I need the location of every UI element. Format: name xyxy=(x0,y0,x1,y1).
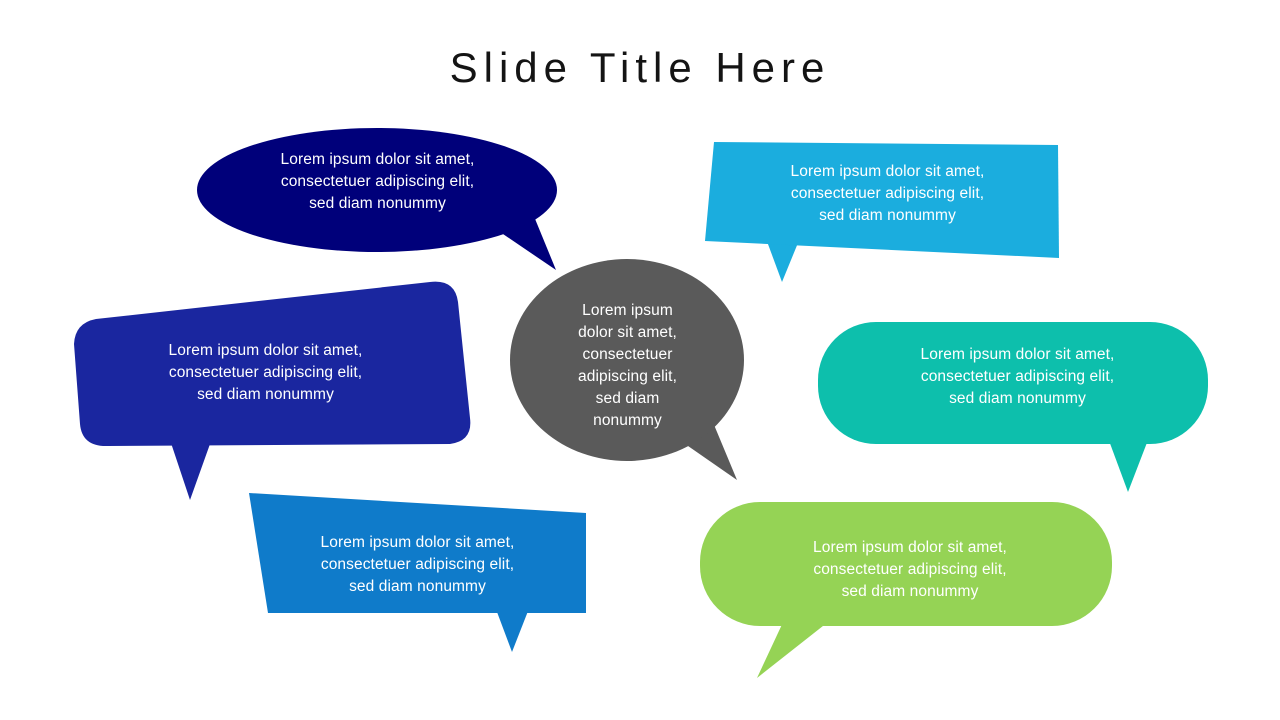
page-title: Slide Title Here xyxy=(0,44,1280,92)
speech-bubble-teal-tail[interactable] xyxy=(1108,438,1148,492)
slide-canvas: Slide Title Here xyxy=(0,0,1280,720)
speech-bubble-green-text: Lorem ipsum dolor sit amet, consectetuer… xyxy=(770,537,1050,603)
speech-bubble-green-tail[interactable] xyxy=(757,618,828,678)
speech-bubble-center-gray-text: Lorem ipsum dolor sit amet, consectetuer… xyxy=(545,300,710,432)
speech-bubble-royal-blue-text: Lorem ipsum dolor sit amet, consectetuer… xyxy=(128,340,403,406)
speech-bubble-teal-text: Lorem ipsum dolor sit amet, consectetuer… xyxy=(880,344,1155,410)
speech-bubble-cyan-text: Lorem ipsum dolor sit amet, consectetuer… xyxy=(745,161,1030,227)
speech-bubble-navy-text: Lorem ipsum dolor sit amet, consectetuer… xyxy=(240,149,515,215)
speech-bubble-blue-text: Lorem ipsum dolor sit amet, consectetuer… xyxy=(280,532,555,598)
